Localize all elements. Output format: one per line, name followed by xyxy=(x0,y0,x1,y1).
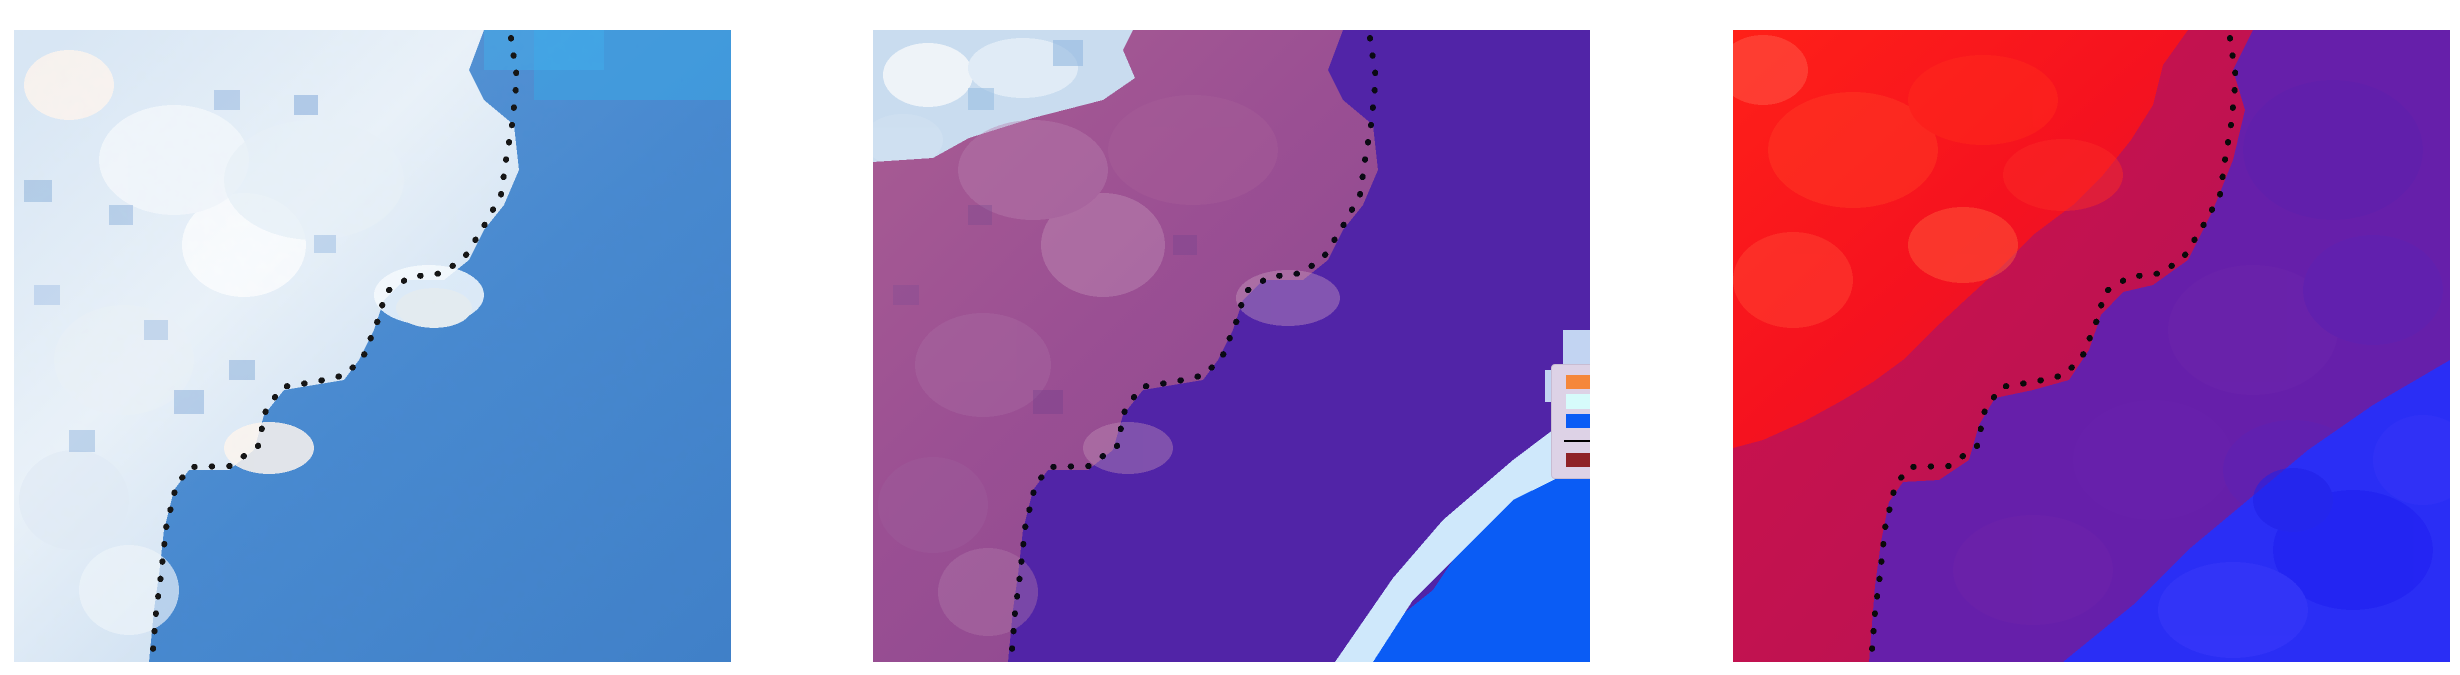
panel-classified: 2002-09-05-09-54-07 xyxy=(873,30,1590,662)
panel-l7: L7 xyxy=(1733,30,2450,662)
legend-item-reference-shoreline-buffer: reference shoreline buffer xyxy=(1561,450,1590,470)
shoreline-line-swatch xyxy=(1561,431,1590,451)
satellite-image-classified xyxy=(873,30,1590,662)
legend-item-water: water xyxy=(1561,411,1590,431)
whitewater-color-swatch xyxy=(1561,392,1590,412)
legend-box: sand whitewater water shoreline xyxy=(1551,364,1590,479)
sand-color-swatch xyxy=(1561,372,1590,392)
satellite-image-sar1601 xyxy=(14,30,731,662)
water-color-swatch xyxy=(1561,411,1590,431)
legend-item-shoreline: shoreline xyxy=(1561,431,1590,451)
legend-item-whitewater: whitewater xyxy=(1561,392,1590,412)
satellite-image-l7 xyxy=(1733,30,2450,662)
reference-buffer-color-swatch xyxy=(1561,450,1590,470)
figure-canvas: sar1601 xyxy=(0,0,2460,675)
panel-sar1601: sar1601 xyxy=(14,30,731,662)
legend-item-sand: sand xyxy=(1561,372,1590,392)
